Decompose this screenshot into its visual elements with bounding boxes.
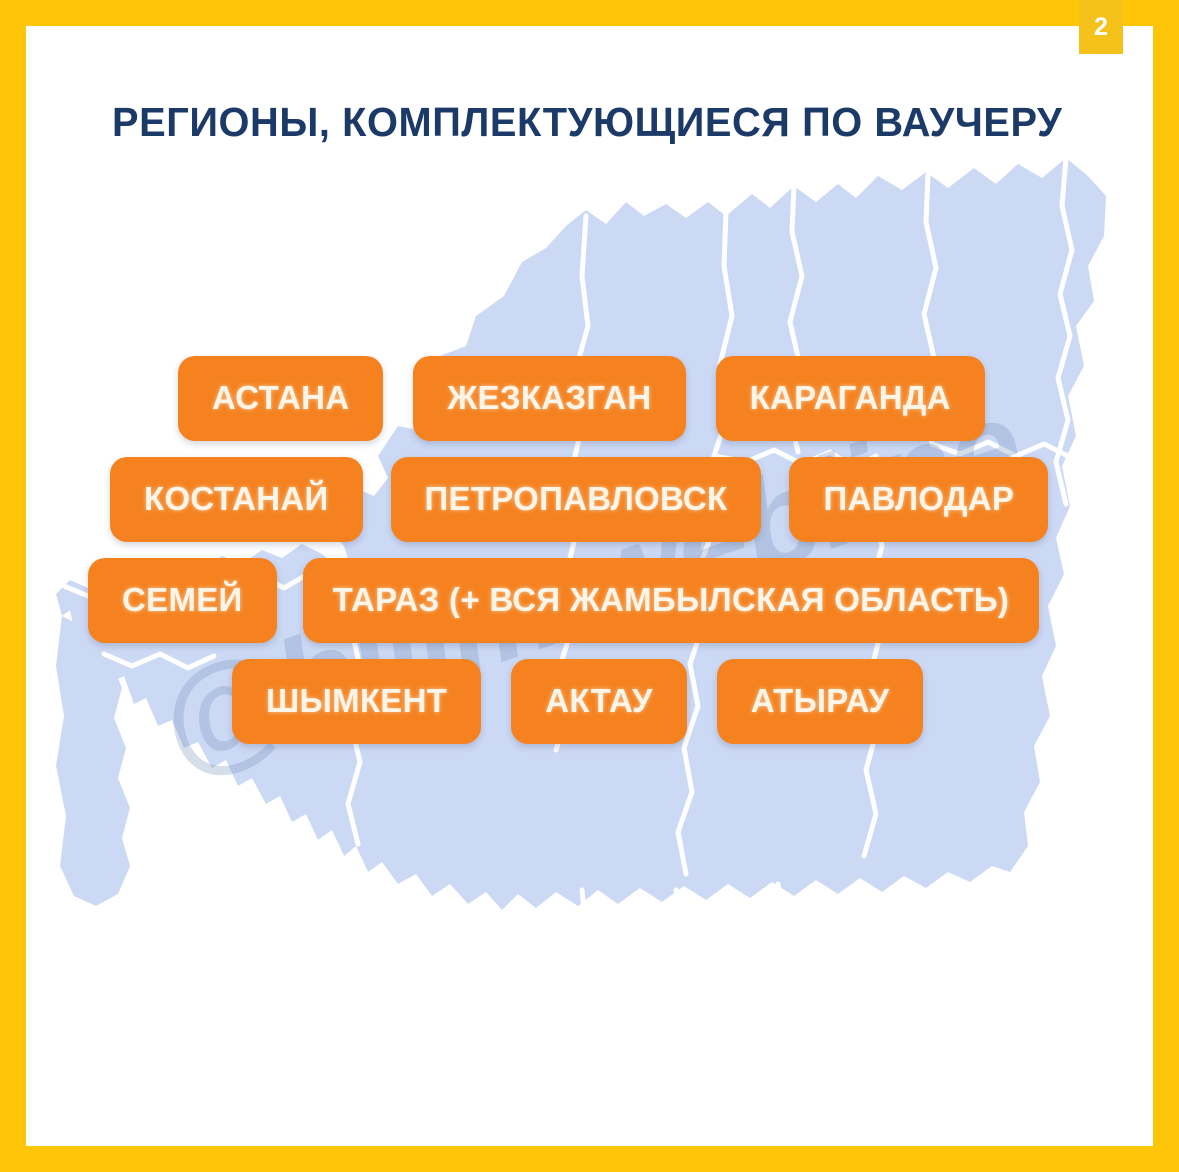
- region-pill-astana[interactable]: АСТАНА: [178, 356, 383, 441]
- page-number-badge: 2: [1079, 0, 1123, 54]
- regions-row-2: КОСТАНАЙ ПЕТРОПАВЛОВСК ПАВЛОДАР: [26, 457, 1153, 542]
- regions-list: АСТАНА ЖЕЗКАЗГАН КАРАГАНДА КОСТАНАЙ ПЕТР…: [26, 356, 1153, 760]
- region-pill-taraz[interactable]: ТАРАЗ (+ ВСЯ ЖАМБЫЛСКАЯ ОБЛАСТЬ): [303, 558, 1040, 643]
- regions-row-4: ШЫМКЕНТ АКТАУ АТЫРАУ: [26, 659, 1153, 744]
- region-pill-pavlodar[interactable]: ПАВЛОДАР: [789, 457, 1048, 542]
- slide-root: @bilim webline РЕГИОНЫ, КОМПЛЕКТУЮЩИЕСЯ …: [0, 0, 1179, 1172]
- region-pill-zhezkazgan[interactable]: ЖЕЗКАЗГАН: [413, 356, 685, 441]
- region-pill-aktau[interactable]: АКТАУ: [511, 659, 686, 744]
- region-pill-shymkent[interactable]: ШЫМКЕНТ: [232, 659, 481, 744]
- regions-row-3: СЕМЕЙ ТАРАЗ (+ ВСЯ ЖАМБЫЛСКАЯ ОБЛАСТЬ): [26, 558, 1153, 643]
- region-pill-semey[interactable]: СЕМЕЙ: [88, 558, 277, 643]
- region-pill-karaganda[interactable]: КАРАГАНДА: [716, 356, 985, 441]
- slide-canvas: @bilim webline РЕГИОНЫ, КОМПЛЕКТУЮЩИЕСЯ …: [26, 26, 1153, 1146]
- region-pill-petropavlovsk[interactable]: ПЕТРОПАВЛОВСК: [391, 457, 762, 542]
- page-title: РЕГИОНЫ, КОМПЛЕКТУЮЩИЕСЯ ПО ВАУЧЕРУ: [112, 101, 1101, 144]
- region-pill-kostanay[interactable]: КОСТАНАЙ: [110, 457, 363, 542]
- regions-row-1: АСТАНА ЖЕЗКАЗГАН КАРАГАНДА: [26, 356, 1153, 441]
- region-pill-atyrau[interactable]: АТЫРАУ: [717, 659, 924, 744]
